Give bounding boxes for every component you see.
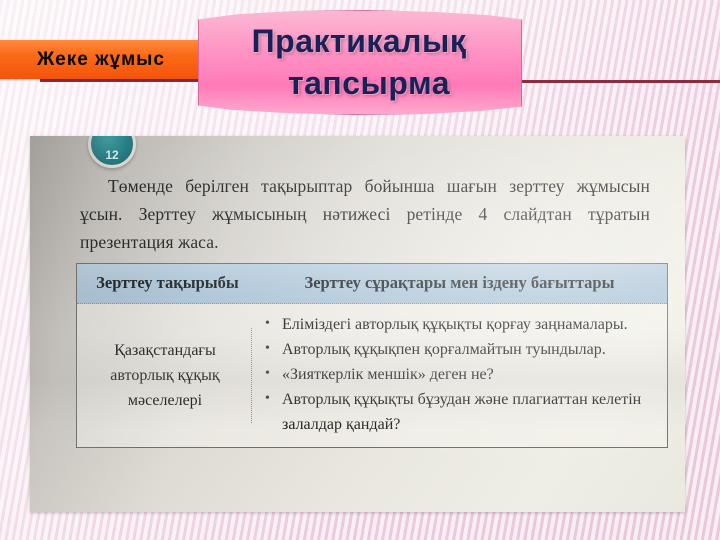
list-item: Авторлық құқықпен қорғалмайтын туындылар… <box>258 337 657 362</box>
list-item: Авторлық құқықты бұзудан және плагиаттан… <box>258 387 657 437</box>
slide-header: Жеке жұмыс Практикалық тапсырма <box>0 0 720 125</box>
page-title-line-2: тапсырма <box>288 62 450 104</box>
task-instruction-text: Төменде берілген тақырыптар бойынша шағы… <box>80 172 650 256</box>
page-number-badge-icon: 12 <box>88 136 136 168</box>
table-cell-questions: Еліміздегі авторлық құқықты қорғау заңна… <box>252 304 667 447</box>
textbook-page-photo: 12 Төменде берілген тақырыптар бойынша ш… <box>30 136 685 512</box>
list-item: Еліміздегі авторлық құқықты қорғау заңна… <box>258 312 657 337</box>
research-table: Зерттеу тақырыбы Зерттеу сұрақтары мен і… <box>76 263 668 448</box>
table-row: Қазақстандағы авторлық құқық мәселелері … <box>77 304 667 447</box>
page-title: Практикалық тапсырма <box>200 14 518 109</box>
table-cell-topic: Қазақстандағы авторлық құқық мәселелері <box>77 328 252 423</box>
page-number-badge-label: 12 <box>91 136 133 165</box>
page-title-line-1: Практикалық <box>252 20 467 62</box>
presentation-slide: Жеке жұмыс Практикалық тапсырма 12 Төмен… <box>0 0 720 540</box>
table-header-questions: Зерттеу сұрақтары мен іздену бағыттары <box>252 264 667 303</box>
table-header-topic: Зерттеу тақырыбы <box>77 264 252 303</box>
table-header-row: Зерттеу тақырыбы Зерттеу сұрақтары мен і… <box>77 264 667 304</box>
subtitle-tab: Жеке жұмыс <box>0 40 206 79</box>
subtitle-tab-label: Жеке жұмыс <box>37 49 165 71</box>
header-rule-left <box>40 79 210 82</box>
list-item: «Зияткерлік меншік» деген не? <box>258 362 657 387</box>
research-question-list: Еліміздегі авторлық құқықты қорғау заңна… <box>258 312 657 437</box>
